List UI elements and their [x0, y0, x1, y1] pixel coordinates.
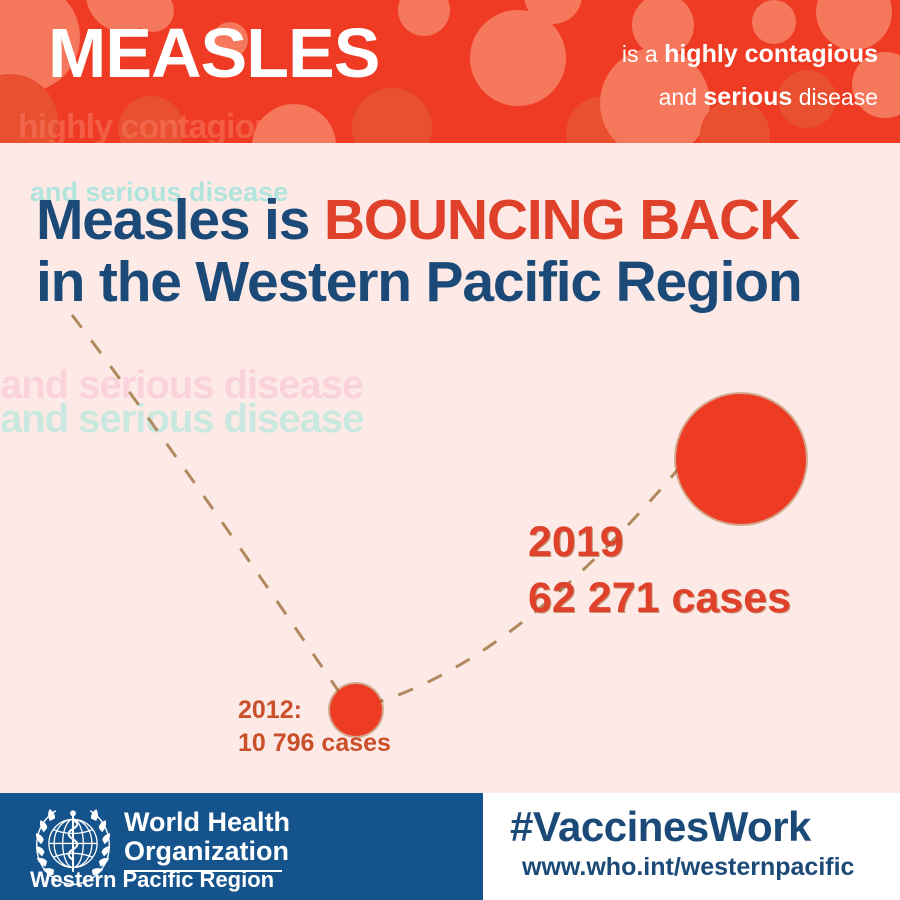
- who-region-label: Western Pacific Region: [30, 868, 274, 892]
- label-2012: 2012: 10 796 cases: [238, 694, 391, 760]
- decorative-bubble-icon: [752, 0, 796, 44]
- headline-line-1: Measles is BOUNCING BACK: [36, 189, 801, 251]
- header-ghost-artifact: highly contagious: [18, 108, 292, 143]
- headline-line-1-prefix: Measles is: [36, 188, 324, 252]
- header-subtitle-suffix: disease: [792, 84, 878, 110]
- footer-brand-panel: World Health Organization Western Pacifi…: [0, 793, 483, 900]
- label-2019-cases: 62 271 cases: [528, 570, 791, 626]
- header-subtitle-line-1: is a highly contagious: [622, 41, 878, 67]
- page-headline: Measles is BOUNCING BACK in the Western …: [36, 189, 801, 313]
- header-band: highly contagious MEASLES is a highly co…: [0, 0, 900, 143]
- decorative-bubble-icon: [398, 0, 450, 36]
- bubble-2019: [676, 394, 806, 524]
- decorative-bubble-icon: [470, 10, 566, 106]
- campaign-hashtag[interactable]: #VaccinesWork: [510, 803, 811, 851]
- header-subtitle-prefix: is a: [622, 41, 664, 67]
- label-2019-year: 2019: [528, 514, 791, 570]
- footer: World Health Organization Western Pacifi…: [0, 793, 900, 900]
- who-organization-name: World Health Organization: [124, 808, 290, 866]
- header-subtitle-emphasis-2: serious: [703, 83, 792, 111]
- headline-accent-text: BOUNCING BACK: [324, 188, 799, 252]
- label-2012-year: 2012:: [238, 694, 391, 727]
- headline-line-2: in the Western Pacific Region: [36, 251, 801, 313]
- main-content-area: and serious disease and serious disease …: [0, 143, 900, 793]
- who-name-line-2: Organization: [124, 837, 290, 866]
- poster-title: MEASLES: [48, 14, 379, 92]
- header-subtitle-emphasis: highly contagious: [664, 40, 878, 68]
- footer-website-url[interactable]: www.who.int/westernpacific: [522, 853, 854, 881]
- decorative-bubble-icon: [352, 88, 432, 143]
- dashed-arc-left: [72, 315, 350, 708]
- infographic-poster: highly contagious MEASLES is a highly co…: [0, 0, 900, 900]
- label-2019: 2019 62 271 cases: [528, 514, 791, 626]
- serpent-head-icon: [70, 810, 76, 816]
- header-subtitle-conjunction: and: [659, 84, 704, 110]
- who-name-line-1: World Health: [124, 808, 290, 837]
- header-subtitle-line-2: and serious disease: [659, 84, 878, 110]
- label-2012-cases: 10 796 cases: [238, 727, 391, 760]
